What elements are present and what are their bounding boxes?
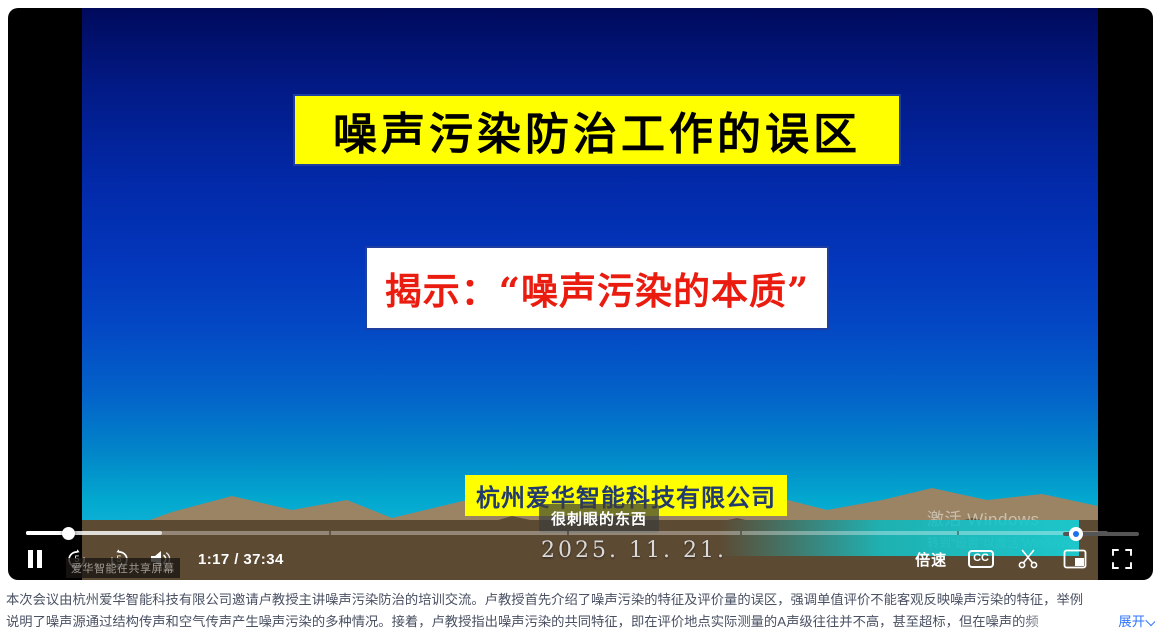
slide-title-box: 噪声污染防治工作的误区 bbox=[293, 94, 901, 166]
time-display: 1:17 / 37:34 bbox=[198, 551, 284, 568]
scissors-icon bbox=[1017, 548, 1039, 570]
expand-label: 展开 bbox=[1118, 611, 1145, 633]
description-line-1: 本次会议由杭州爱华智能科技有限公司邀请卢教授主讲噪声污染防治的培训交流。卢教授首… bbox=[6, 589, 1155, 611]
progress-track[interactable] bbox=[26, 531, 1108, 535]
picture-in-picture-button[interactable] bbox=[1062, 546, 1088, 572]
video-stage[interactable]: 噪声污染防治工作的误区 揭示：“噪声污染的本质” 杭州爱华智能科技有限公司 20… bbox=[82, 8, 1098, 580]
video-player[interactable]: 噪声污染防治工作的误区 揭示：“噪声污染的本质” 杭州爱华智能科技有限公司 20… bbox=[8, 8, 1153, 580]
pause-icon bbox=[26, 549, 44, 569]
slide-title: 噪声污染防治工作的误区 bbox=[333, 98, 861, 162]
slide-subtitle: 揭示：“噪声污染的本质” bbox=[385, 261, 810, 315]
chapter-marker[interactable] bbox=[329, 531, 331, 535]
playback-speed-button[interactable]: 倍速 bbox=[915, 549, 947, 570]
chapter-marker[interactable] bbox=[567, 531, 569, 535]
progress-handle[interactable] bbox=[62, 527, 75, 540]
volume-slider-handle[interactable] bbox=[1069, 527, 1083, 541]
slide-subtitle-box: 揭示：“噪声污染的本质” bbox=[365, 246, 829, 330]
player-controls-bar[interactable]: 5 5 1:17 / 37:34 爱华智能在共享屏幕 bbox=[8, 520, 1153, 580]
chapter-marker[interactable] bbox=[957, 531, 959, 535]
expand-description-button[interactable]: 展开 bbox=[1106, 611, 1155, 633]
clip-button[interactable] bbox=[1015, 546, 1041, 572]
controls-right-group[interactable]: 倍速 CC bbox=[915, 544, 1135, 574]
fullscreen-icon bbox=[1111, 548, 1133, 570]
chevron-down-icon bbox=[1145, 615, 1155, 626]
description-line-2: 说明了噪声源通过结构传声和空气传声产生噪声污染的多种情况。接着，卢教授指出噪声污… bbox=[6, 614, 1039, 629]
pause-button[interactable] bbox=[22, 546, 48, 572]
fullscreen-button[interactable] bbox=[1109, 546, 1135, 572]
picture-in-picture-icon bbox=[1063, 549, 1087, 569]
chapter-marker[interactable] bbox=[740, 531, 742, 535]
captions-button[interactable]: CC bbox=[968, 550, 994, 568]
progress-bar[interactable] bbox=[18, 526, 1153, 540]
video-description: 本次会议由杭州爱华智能科技有限公司邀请卢教授主讲噪声污染防治的培训交流。卢教授首… bbox=[6, 589, 1155, 633]
screen-share-watermark: 爱华智能在共享屏幕 bbox=[66, 558, 180, 578]
volume-slider[interactable] bbox=[1063, 527, 1139, 541]
